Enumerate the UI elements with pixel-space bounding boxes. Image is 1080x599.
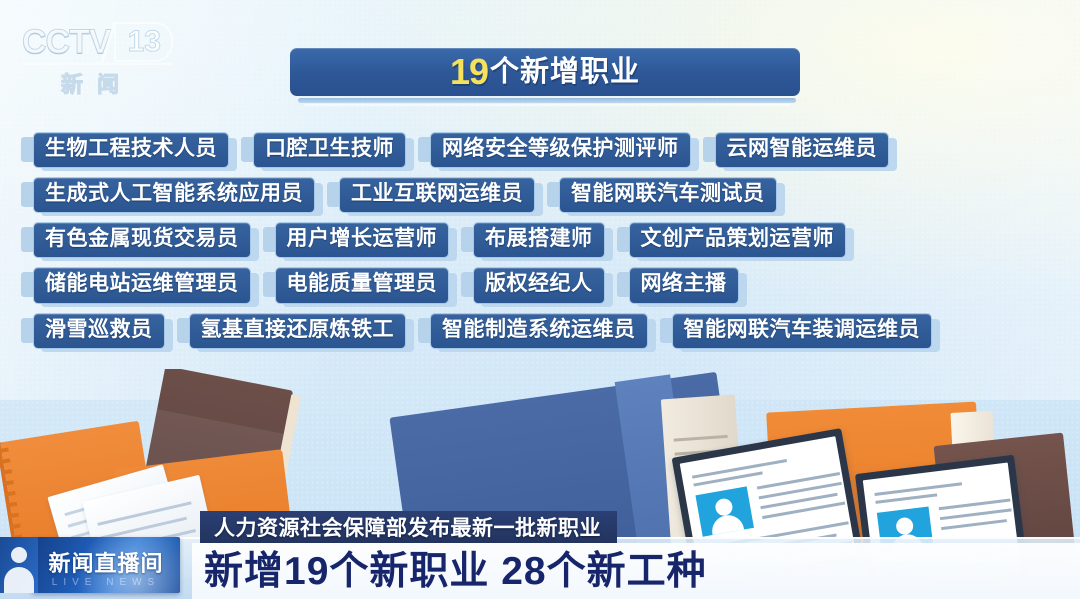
occupation-tag-label: 网络主播 (630, 268, 738, 302)
occupation-tag[interactable]: 电能质量管理员 (276, 268, 449, 302)
channel-number: 13 (114, 22, 173, 62)
occupation-tag[interactable]: 有色金属现货交易员 (34, 223, 250, 257)
occupation-tag-label: 电能质量管理员 (276, 268, 449, 302)
occupation-tag-label: 口腔卫生技师 (254, 133, 405, 167)
occupation-tag[interactable]: 网络安全等级保护测评师 (431, 133, 690, 167)
title-banner-underline (298, 98, 796, 103)
title-banner-underline-thin (304, 104, 790, 106)
occupation-tag-label: 有色金属现货交易员 (34, 223, 250, 257)
kicker-text: 人力资源社会保障部发布最新一批新职业 (214, 512, 601, 542)
occupation-tag-row: 生物工程技术人员口腔卫生技师网络安全等级保护测评师云网智能运维员 (34, 133, 1050, 167)
occupation-tag-label: 文创产品策划运营师 (630, 223, 846, 257)
page-line (674, 435, 728, 442)
lower-third-kicker: 人力资源社会保障部发布最新一批新职业 (200, 511, 617, 543)
occupation-tag-label: 版权经纪人 (474, 268, 604, 302)
occupation-tag-label: 生物工程技术人员 (34, 133, 228, 167)
person-head-icon (11, 547, 27, 563)
logo-divider (22, 63, 172, 65)
lower-third-headline-bar: 新增19个新职业 28个新工种 (192, 543, 1080, 599)
occupation-tag[interactable]: 滑雪巡救员 (34, 314, 164, 348)
title-banner-wrap: 19 个新增职业 (290, 48, 800, 96)
headline-text: 新增19个新职业 28个新工种 (204, 552, 707, 591)
occupation-tag[interactable]: 智能制造系统运维员 (431, 314, 647, 348)
occupation-tag-label: 工业互联网运维员 (340, 178, 534, 212)
new-occupation-count: 19 (450, 54, 488, 90)
occupation-tag-label: 网络安全等级保护测评师 (431, 133, 690, 167)
occupation-tag[interactable]: 生成式人工智能系统应用员 (34, 178, 314, 212)
program-name: 新闻直播间 (32, 546, 180, 578)
occupation-tag-row: 生成式人工智能系统应用员工业互联网运维员智能网联汽车测试员 (34, 178, 1050, 212)
occupation-tag-label: 储能电站运维管理员 (34, 268, 250, 302)
occupation-tag[interactable]: 智能网联汽车测试员 (560, 178, 776, 212)
occupation-tag-row: 有色金属现货交易员用户增长运营师布展搭建师文创产品策划运营师 (34, 223, 1050, 257)
person-body-icon (4, 567, 34, 593)
occupation-tag[interactable]: 口腔卫生技师 (254, 133, 405, 167)
lower-third: 人力资源社会保障部发布最新一批新职业 新增19个新职业 28个新工种 新闻直播间… (0, 499, 1080, 599)
occupation-tag-row: 滑雪巡救员氢基直接还原炼铁工智能制造系统运维员智能网联汽车装调运维员 (34, 314, 1050, 348)
occupation-tag-row: 储能电站运维管理员电能质量管理员版权经纪人网络主播 (34, 268, 1050, 302)
occupation-tag-label: 智能网联汽车测试员 (560, 178, 776, 212)
occupation-tag[interactable]: 用户增长运营师 (276, 223, 449, 257)
logo-top-row: CCTV 13 (22, 22, 192, 62)
live-person-icon (0, 537, 38, 593)
resume-line (874, 482, 962, 496)
occupation-tag[interactable]: 氢基直接还原炼铁工 (190, 314, 406, 348)
title-banner: 19 个新增职业 (290, 48, 800, 96)
occupation-tag[interactable]: 生物工程技术人员 (34, 133, 228, 167)
occupation-tag-label: 云网智能运维员 (716, 133, 889, 167)
occupation-tag[interactable]: 布展搭建师 (474, 223, 604, 257)
occupation-tag-label: 生成式人工智能系统应用员 (34, 178, 314, 212)
broadcast-screen: CCTV 13 新闻 19 个新增职业 生物工程技术人员口腔卫生技师网络安全等级… (0, 0, 1080, 599)
occupation-tag-label: 智能网联汽车装调运维员 (673, 314, 932, 348)
occupation-tag[interactable]: 储能电站运维管理员 (34, 268, 250, 302)
occupation-tag-list: 生物工程技术人员口腔卫生技师网络安全等级保护测评师云网智能运维员生成式人工智能系… (34, 133, 1050, 359)
occupation-tag-label: 布展搭建师 (474, 223, 604, 257)
program-sub-label: LIVE NEWS (32, 577, 180, 588)
occupation-tag-label: 智能制造系统运维员 (431, 314, 647, 348)
occupation-tag-label: 滑雪巡救员 (34, 314, 164, 348)
occupation-tag[interactable]: 版权经纪人 (474, 268, 604, 302)
title-banner-label: 个新增职业 (490, 58, 640, 87)
occupation-tag[interactable]: 文创产品策划运营师 (630, 223, 846, 257)
occupation-tag[interactable]: 网络主播 (630, 268, 738, 302)
occupation-tag[interactable]: 云网智能运维员 (716, 133, 889, 167)
occupation-tag-label: 氢基直接还原炼铁工 (190, 314, 406, 348)
program-badge: 新闻直播间 LIVE NEWS (32, 537, 180, 593)
channel-name-cn: 新闻 (22, 67, 172, 99)
occupation-tag[interactable]: 智能网联汽车装调运维员 (673, 314, 932, 348)
cctv13-channel-logo: CCTV 13 新闻 (22, 22, 192, 92)
occupation-tag[interactable]: 工业互联网运维员 (340, 178, 534, 212)
cctv-wordmark: CCTV (22, 23, 111, 62)
occupation-tag-label: 用户增长运营师 (276, 223, 449, 257)
